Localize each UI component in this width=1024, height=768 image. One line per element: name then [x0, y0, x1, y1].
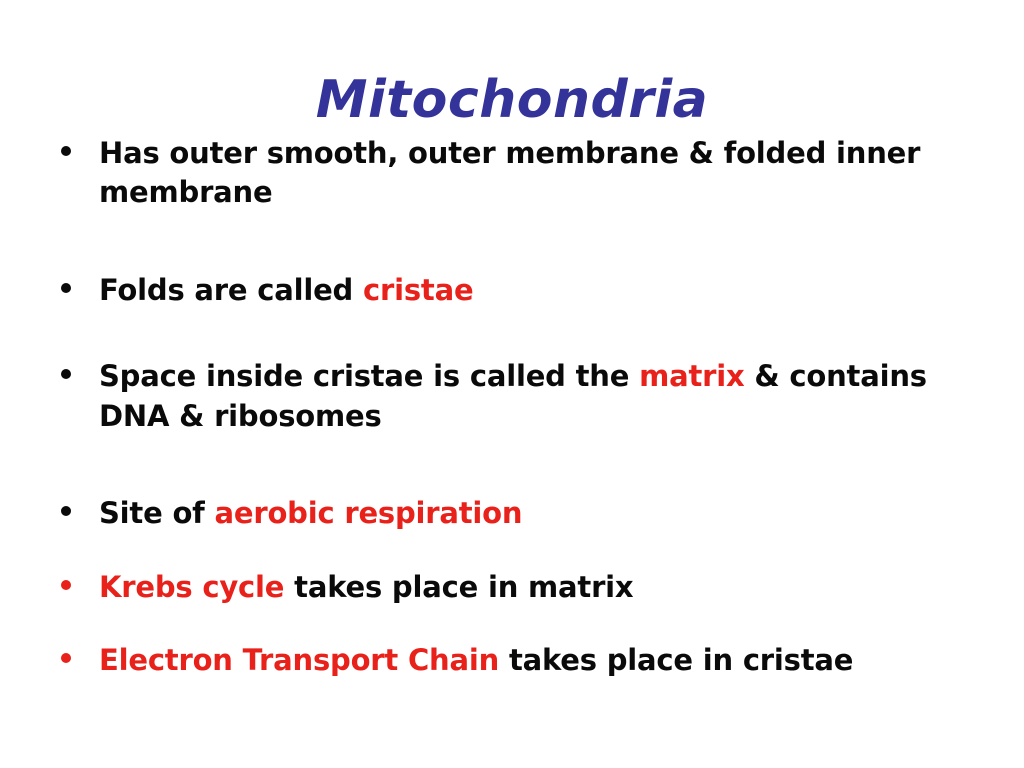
bullet-marker-icon [61, 506, 71, 516]
bullet-marker-icon [61, 283, 71, 293]
list-item: Folds are called cristae [52, 271, 952, 310]
bullet-marker-icon [61, 146, 71, 156]
page-title: Mitochondria [0, 71, 1024, 129]
list-item-text: Electron Transport Chain takes place in … [99, 643, 853, 677]
emphasis-term: Electron Transport Chain [99, 643, 499, 677]
emphasis-term: cristae [363, 273, 473, 307]
emphasis-term: matrix [639, 359, 744, 393]
slide-canvas: Mitochondria Has outer smooth, outer mem… [0, 0, 1024, 768]
list-item: Site of aerobic respiration [52, 494, 952, 533]
list-item: Has outer smooth, outer membrane & folde… [52, 134, 952, 213]
bullet-list: Has outer smooth, outer membrane & folde… [52, 134, 952, 681]
list-item: Krebs cycle takes place in matrix [52, 568, 952, 607]
bullet-marker-icon [61, 653, 71, 663]
bullet-marker-icon [61, 580, 71, 590]
bullet-marker-icon [61, 369, 71, 379]
list-item-text: Space inside cristae is called the matri… [99, 359, 927, 432]
list-item: Space inside cristae is called the matri… [52, 357, 952, 436]
emphasis-term: aerobic respiration [215, 496, 523, 530]
emphasis-term: Krebs cycle [99, 570, 284, 604]
list-item-text: Krebs cycle takes place in matrix [99, 570, 633, 604]
list-item-text: Site of aerobic respiration [99, 496, 522, 530]
list-item-text: Folds are called cristae [99, 273, 473, 307]
list-item: Electron Transport Chain takes place in … [52, 641, 952, 680]
list-item-text: Has outer smooth, outer membrane & folde… [99, 136, 920, 209]
